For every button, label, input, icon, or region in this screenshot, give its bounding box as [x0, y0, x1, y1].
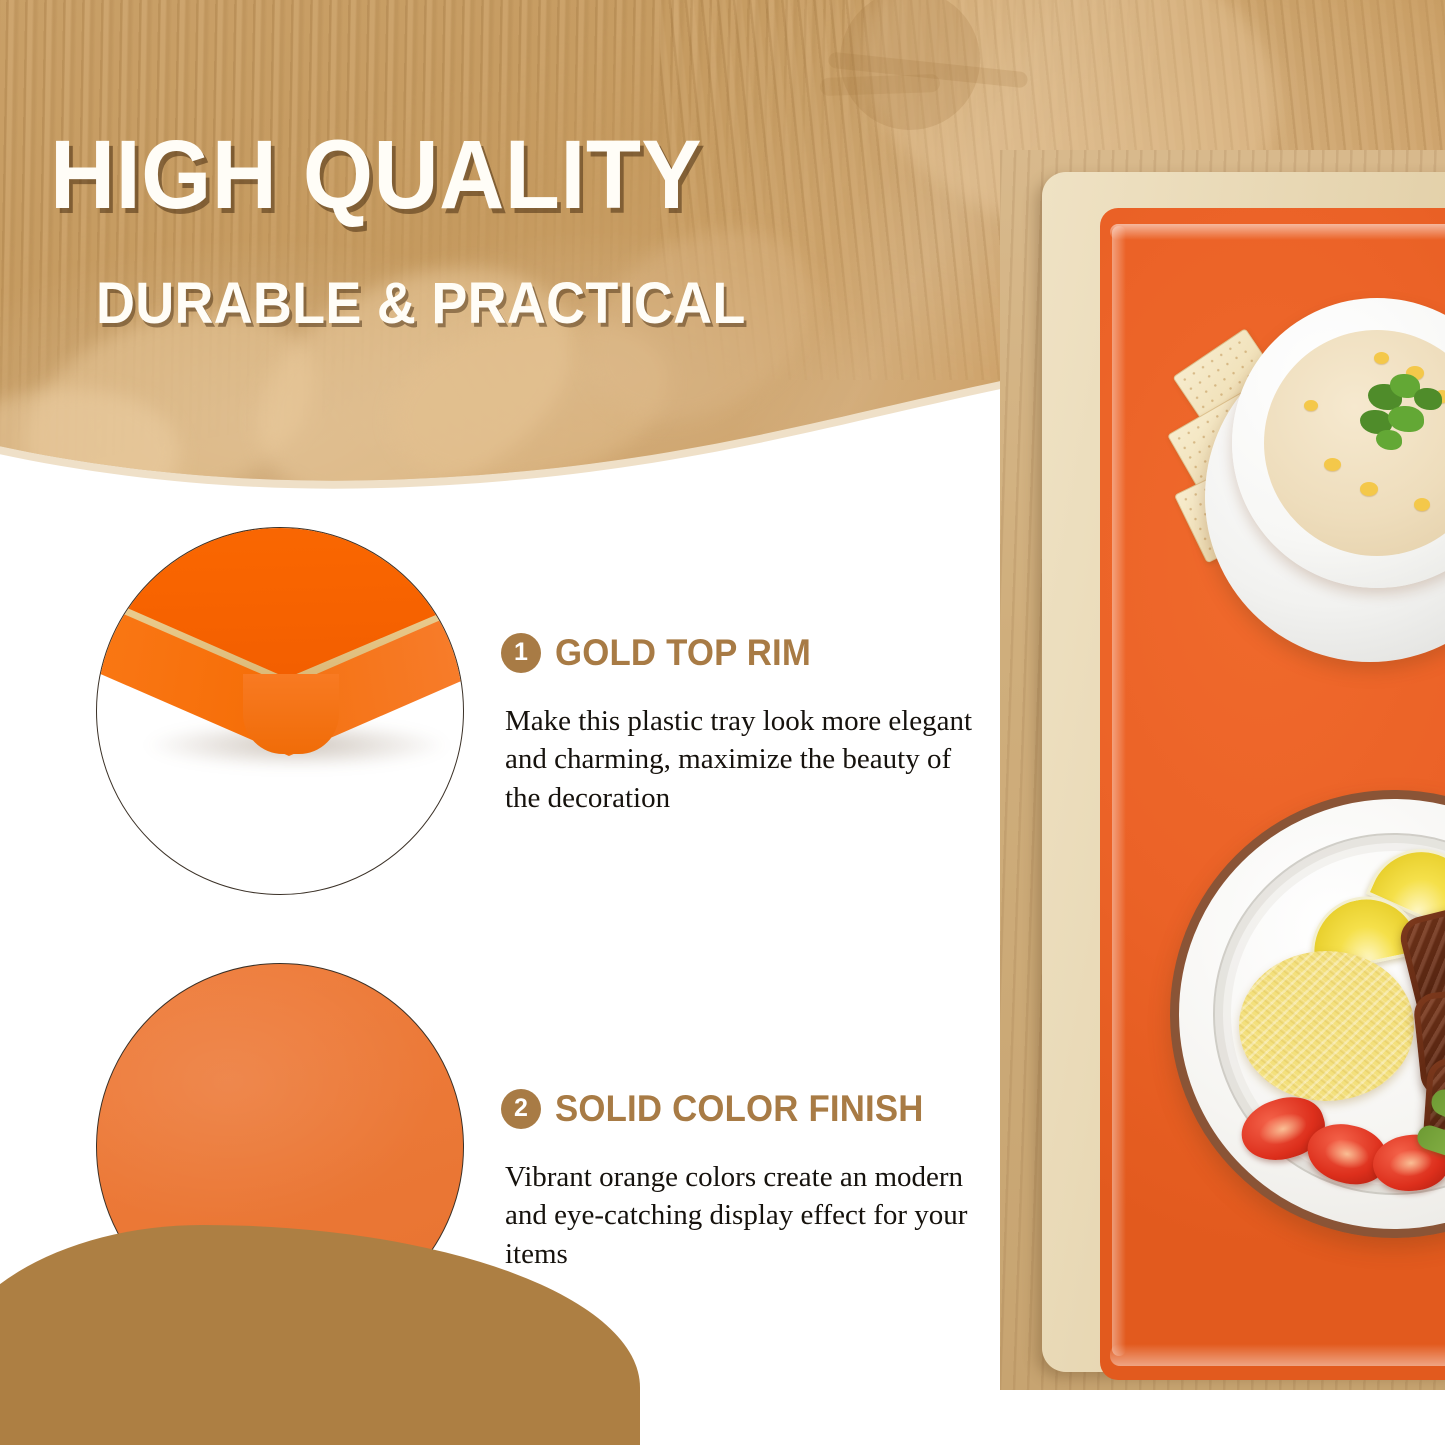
tray-gloss-highlight — [1112, 226, 1126, 1356]
infographic-canvas: HIGH QUALITY DURABLE & PRACTICAL 1 GOLD … — [0, 0, 1445, 1445]
feature-1-text-block: 1 GOLD TOP RIM Make this plastic tray lo… — [501, 632, 1001, 817]
feature-2-body: Vibrant orange colors create an modern a… — [505, 1158, 975, 1273]
tray-corner-tip — [243, 674, 339, 754]
feature-2-title: SOLID COLOR FINISH — [555, 1088, 924, 1130]
parsley-garnish — [1414, 388, 1442, 410]
parsley-garnish — [1388, 406, 1424, 432]
corn-kernel — [1360, 482, 1378, 496]
feature-2-heading-row: 2 SOLID COLOR FINISH — [501, 1088, 1001, 1130]
corn-kernel — [1304, 400, 1318, 411]
feature-2-number-badge: 2 — [501, 1089, 541, 1129]
feature-1-heading-row: 1 GOLD TOP RIM — [501, 632, 1001, 674]
page-title: HIGH QUALITY — [50, 126, 702, 223]
feature-1-number-badge: 1 — [501, 633, 541, 673]
feature-1-title: GOLD TOP RIM — [555, 632, 811, 674]
product-photo — [1000, 150, 1445, 1390]
tray-gloss-highlight — [1110, 1344, 1445, 1366]
page-subtitle: DURABLE & PRACTICAL — [96, 275, 746, 333]
corn-kernel — [1414, 498, 1430, 511]
tray-corner-closeup-icon — [96, 527, 464, 850]
feature-1-callout-circle — [96, 527, 464, 895]
feature-2-text-block: 2 SOLID COLOR FINISH Vibrant orange colo… — [501, 1088, 1001, 1273]
feature-1-body: Make this plastic tray look more elegant… — [505, 702, 975, 817]
parsley-garnish — [1376, 430, 1402, 450]
tray-gloss-highlight — [1110, 224, 1445, 240]
corn-kernel — [1374, 352, 1389, 364]
pasta-nest — [1239, 951, 1414, 1101]
corn-kernel — [1324, 458, 1341, 471]
